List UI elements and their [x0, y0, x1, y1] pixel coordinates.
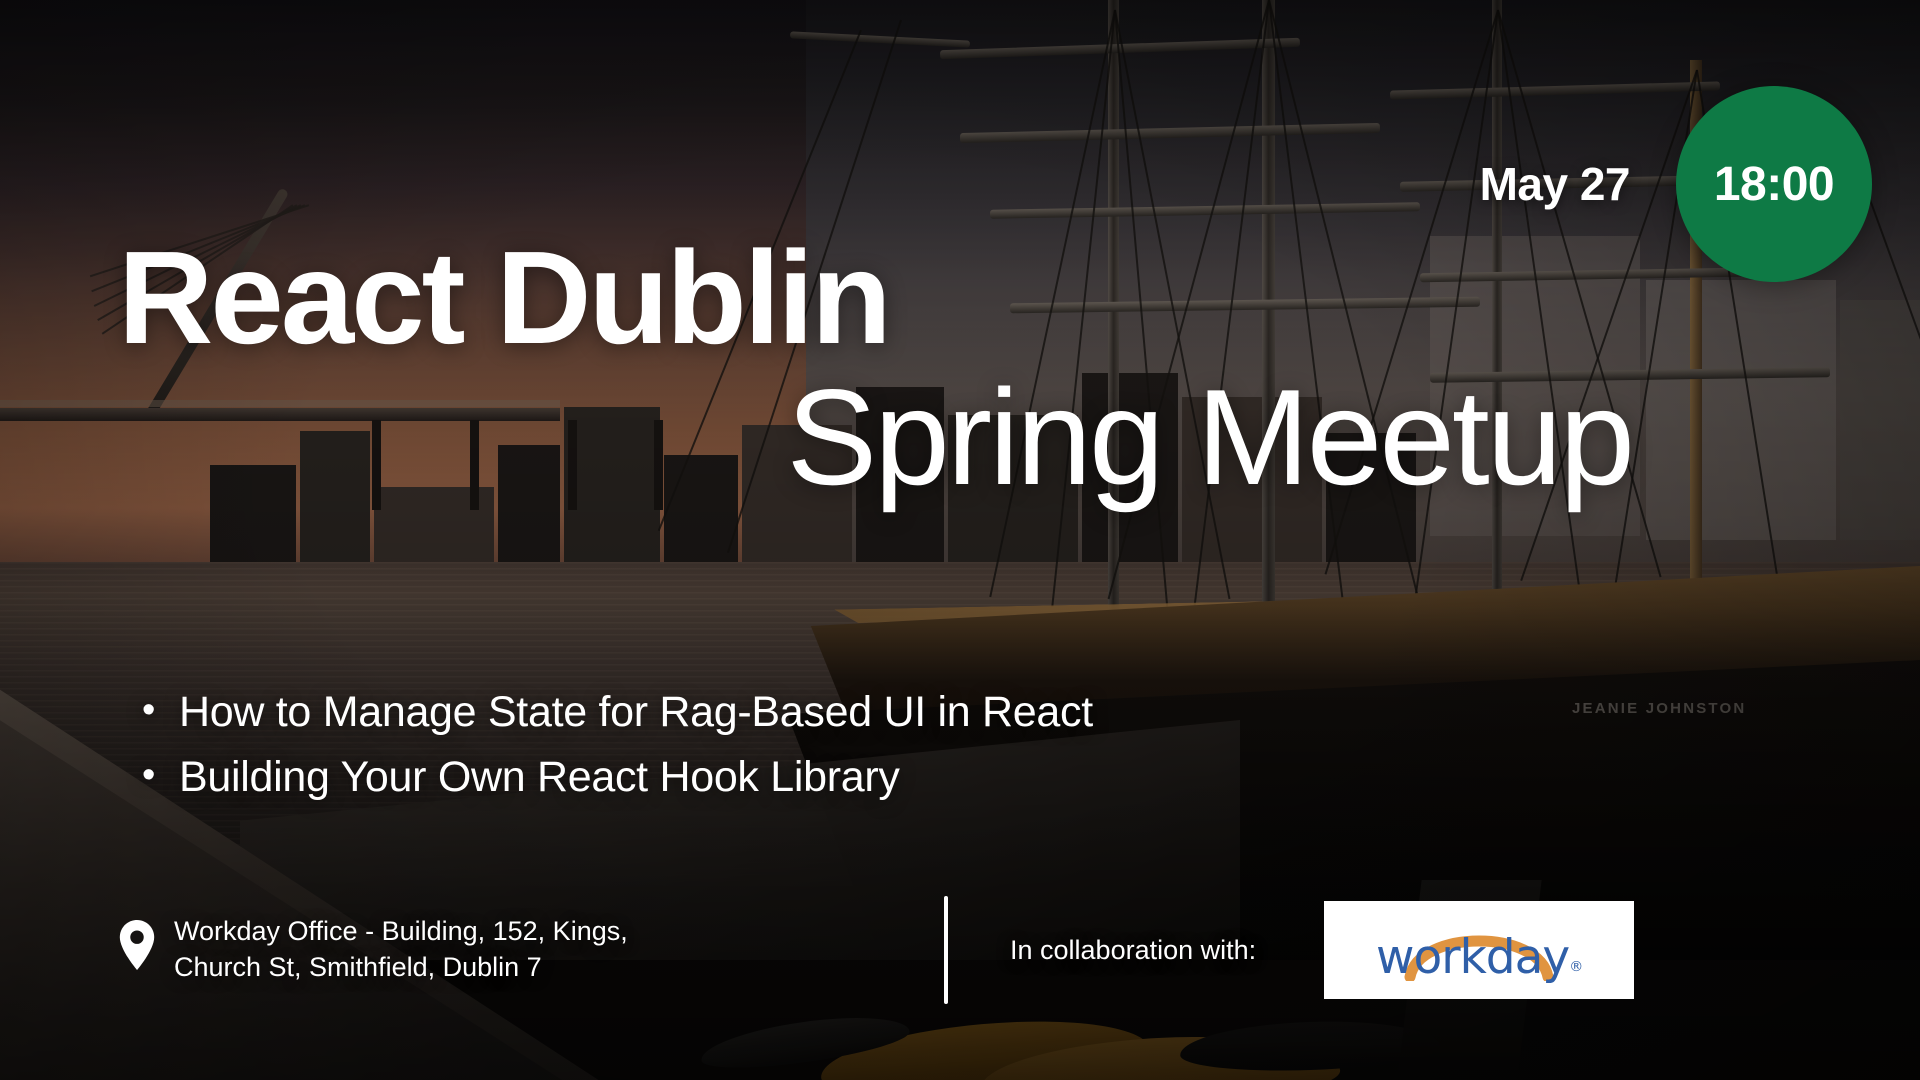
workday-logo: workday®	[1324, 901, 1634, 999]
bullet-icon: •	[142, 756, 155, 794]
venue-block: Workday Office - Building, 152, Kings, C…	[118, 914, 908, 985]
page-subtitle: Spring Meetup	[118, 366, 1718, 509]
talks-list: • How to Manage State for Rag-Based UI i…	[142, 680, 1093, 811]
poster-content: May 27 18:00 React Dublin Spring Meetup …	[0, 0, 1920, 1080]
page-title: React Dublin	[118, 232, 1718, 364]
list-item: • Building Your Own React Hook Library	[142, 745, 1093, 810]
list-item: • How to Manage State for Rag-Based UI i…	[142, 680, 1093, 745]
event-time: 18:00	[1714, 157, 1834, 212]
registered-mark: ®	[1569, 959, 1582, 975]
poster-footer: Workday Office - Building, 152, Kings, C…	[118, 896, 1802, 1004]
event-date: May 27	[1480, 157, 1630, 211]
venue-address-line-2: Church St, Smithfield, Dublin 7	[174, 950, 628, 986]
location-pin-icon	[118, 920, 156, 975]
talk-title: Building Your Own React Hook Library	[179, 745, 900, 810]
venue-address-line-1: Workday Office - Building, 152, Kings,	[174, 914, 628, 950]
event-poster: JEANIE JOHNSTON May 27 18:00 React Dubli…	[0, 0, 1920, 1080]
footer-divider	[944, 896, 948, 1004]
workday-wordmark: workday®	[1376, 934, 1582, 981]
bullet-icon: •	[142, 691, 155, 729]
talk-title: How to Manage State for Rag-Based UI in …	[179, 680, 1093, 745]
workday-name: workday	[1376, 930, 1569, 985]
title-block: React Dublin Spring Meetup	[118, 232, 1718, 509]
collaboration-label: In collaboration with:	[1010, 935, 1256, 966]
venue-address: Workday Office - Building, 152, Kings, C…	[174, 914, 628, 985]
